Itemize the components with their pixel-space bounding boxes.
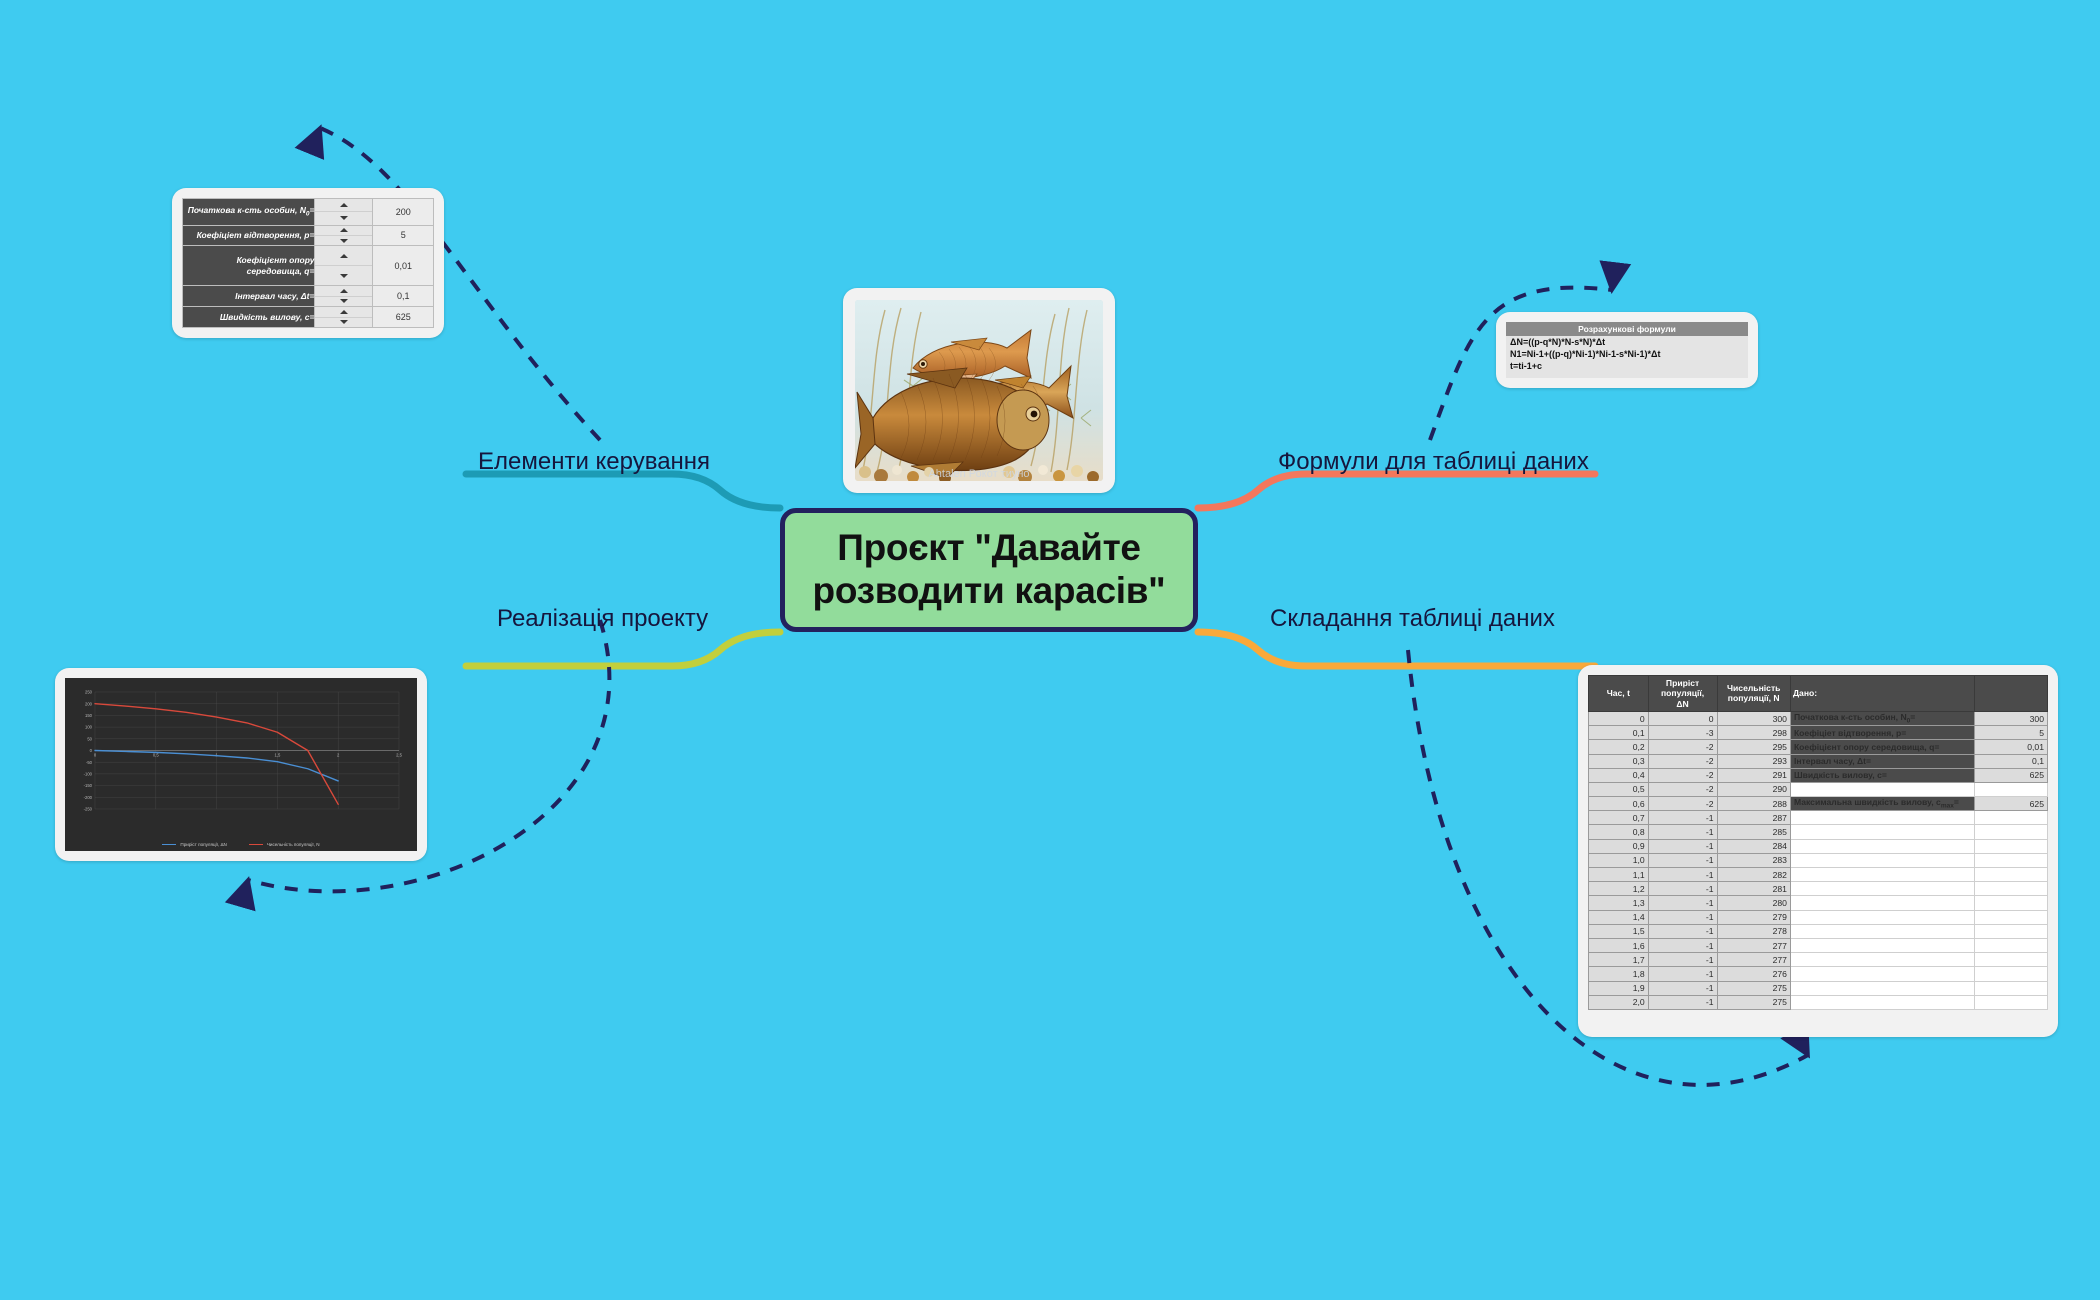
cell-N: 290 (1717, 782, 1790, 796)
control-spinner[interactable] (315, 246, 373, 286)
cell-given-value: 300 (1974, 711, 2047, 725)
formula-line-2: N1=Ni-1+((p-q)*Ni-1)*Ni-1-s*Ni-1)*Δt (1506, 348, 1748, 360)
formulas-inner: Розрахункові формули ΔN=((p-q*N)*N-s*N)*… (1506, 322, 1748, 378)
control-spinner[interactable] (315, 286, 373, 307)
control-row: Інтервал часу, Δt=0,1 (183, 286, 434, 307)
control-value: 0,01 (373, 246, 434, 286)
cell-t: 0,2 (1589, 740, 1649, 754)
formulas-card[interactable]: Розрахункові формули ΔN=((p-q*N)*N-s*N)*… (1496, 312, 1758, 388)
table-row: 1,6-1277 (1589, 938, 2048, 952)
cell-given-label (1790, 924, 1974, 938)
spinner-down-icon[interactable] (315, 297, 372, 306)
controls-table: Початкова к-сть особин, N0=200Коефіціет … (182, 198, 434, 328)
formula-line-3: t=ti-1+c (1506, 360, 1748, 372)
legend-label: Чисельність популяції, N (267, 842, 320, 847)
table-row: 1,2-1281 (1589, 882, 2048, 896)
cell-N: 293 (1717, 754, 1790, 768)
data-table: Час, t Приріст популяції, ΔN Чисельність… (1588, 675, 2048, 1010)
control-label: Коефіцієнт опору середовища, q= (183, 246, 315, 286)
cell-t: 0,6 (1589, 797, 1649, 811)
cell-t: 1,6 (1589, 938, 1649, 952)
cell-dN: -1 (1648, 967, 1717, 981)
cell-given-value: 625 (1974, 768, 2047, 782)
central-title-line1: Проєкт "Давайте (837, 527, 1140, 568)
cell-dN: -1 (1648, 868, 1717, 882)
cell-given-label: Початкова к-сть особин, N0= (1790, 711, 1974, 725)
cell-t: 1,2 (1589, 882, 1649, 896)
legend-swatch (249, 844, 263, 846)
cell-given-value (1974, 938, 2047, 952)
svg-text:-250: -250 (84, 807, 93, 812)
fish-image-svg: Ahtalen Рокот тиуно (855, 300, 1103, 481)
cell-N: 295 (1717, 740, 1790, 754)
table-row: 0,6-2288Максимальна швидкість вилову, cm… (1589, 797, 2048, 811)
table-row: 0,3-2293Інтервал часу, Δt=0,1 (1589, 754, 2048, 768)
branch-line-formulas (1198, 474, 1595, 508)
legend-swatch (162, 844, 176, 846)
control-label: Початкова к-сть особин, N0= (183, 199, 315, 226)
control-spinner[interactable] (315, 307, 373, 328)
cell-dN: -1 (1648, 995, 1717, 1009)
central-title-line2: розводити карасів" (813, 570, 1166, 611)
cell-given-label (1790, 953, 1974, 967)
cell-N: 283 (1717, 853, 1790, 867)
svg-text:0: 0 (90, 748, 93, 753)
cell-N: 287 (1717, 811, 1790, 825)
col-header-delta: Приріст популяції, ΔN (1648, 676, 1717, 712)
cell-given-value (1974, 995, 2047, 1009)
cell-t: 1,3 (1589, 896, 1649, 910)
control-value: 625 (373, 307, 434, 328)
cell-given-label (1790, 839, 1974, 853)
cell-N: 288 (1717, 797, 1790, 811)
controls-panel-card[interactable]: Початкова к-сть особин, N0=200Коефіціет … (172, 188, 444, 338)
branch-label-controls[interactable]: Елементи керування (478, 448, 710, 476)
cell-given-value (1974, 981, 2047, 995)
chart-legend: Приріст популяції, ΔNЧисельність популяц… (65, 842, 417, 847)
cell-dN: -1 (1648, 853, 1717, 867)
control-value: 5 (373, 225, 434, 246)
control-label: Коефіціет відтворення, p= (183, 225, 315, 246)
cell-t: 1,0 (1589, 853, 1649, 867)
table-row: 1,1-1282 (1589, 868, 2048, 882)
cell-dN: -1 (1648, 953, 1717, 967)
table-row: 00300Початкова к-сть особин, N0=300 (1589, 711, 2048, 725)
spinner-down-icon[interactable] (315, 266, 372, 285)
mindmap-canvas: Проєкт "Давайте розводити карасів" Елеме… (0, 0, 2100, 1300)
cell-given-value: 0,1 (1974, 754, 2047, 768)
table-row: 0,4-2291Швидкість вилову, c=625 (1589, 768, 2048, 782)
cell-t: 0,9 (1589, 839, 1649, 853)
legend-item: Чисельність популяції, N (249, 842, 320, 847)
cell-given-label (1790, 896, 1974, 910)
table-row: 0,7-1287 (1589, 811, 2048, 825)
cell-dN: -2 (1648, 740, 1717, 754)
svg-text:1,5: 1,5 (274, 753, 280, 758)
cell-dN: -1 (1648, 825, 1717, 839)
cell-dN: -2 (1648, 797, 1717, 811)
cell-dN: -2 (1648, 782, 1717, 796)
spinner-down-icon[interactable] (315, 318, 372, 327)
cell-N: 279 (1717, 910, 1790, 924)
cell-N: 282 (1717, 868, 1790, 882)
spinner-down-icon[interactable] (315, 236, 372, 245)
cell-given-value (1974, 839, 2047, 853)
table-row: 0,1-3298Коефіціет відтворення, p=5 (1589, 726, 2048, 740)
fish-illustration: Ahtalen Рокот тиуно (855, 300, 1103, 481)
cell-given-label (1790, 981, 1974, 995)
cell-N: 284 (1717, 839, 1790, 853)
table-row: 1,8-1276 (1589, 967, 2048, 981)
cell-given-label (1790, 938, 1974, 952)
cell-given-value (1974, 953, 2047, 967)
cell-t: 0,7 (1589, 811, 1649, 825)
control-row: Коефіцієнт опору середовища, q=0,01 (183, 246, 434, 286)
formula-line-1: ΔN=((p-q*N)*N-s*N)*Δt (1506, 336, 1748, 348)
cell-dN: -2 (1648, 754, 1717, 768)
spinner-up-icon[interactable] (315, 246, 372, 266)
cell-given-label: Максимальна швидкість вилову, cmax= (1790, 797, 1974, 811)
cell-dN: -2 (1648, 768, 1717, 782)
svg-text:0,5: 0,5 (153, 753, 159, 758)
branch-line-data-table (1198, 632, 1595, 666)
cell-N: 275 (1717, 981, 1790, 995)
cell-given-value: 625 (1974, 797, 2047, 811)
chart-card[interactable]: 250200150100500-50-100-150-200-25000,511… (55, 668, 427, 861)
svg-text:100: 100 (85, 725, 93, 730)
cell-N: 277 (1717, 938, 1790, 952)
cell-given-value (1974, 825, 2047, 839)
svg-text:150: 150 (85, 713, 93, 718)
cell-N: 281 (1717, 882, 1790, 896)
branch-line-implementation (466, 632, 780, 666)
table-row: 1,5-1278 (1589, 924, 2048, 938)
cell-t: 2,0 (1589, 995, 1649, 1009)
cell-t: 1,9 (1589, 981, 1649, 995)
cell-N: 300 (1717, 711, 1790, 725)
control-value: 0,1 (373, 286, 434, 307)
cell-given-value (1974, 924, 2047, 938)
svg-text:-200: -200 (84, 795, 93, 800)
svg-text:2: 2 (337, 753, 340, 758)
fish-image-caption: Ahtalen Рокот тиуно (928, 468, 1029, 480)
cell-N: 298 (1717, 726, 1790, 740)
table-row: 1,0-1283 (1589, 853, 2048, 867)
spinner-up-icon[interactable] (315, 307, 372, 317)
cell-t: 1,1 (1589, 868, 1649, 882)
data-table-inner: Час, t Приріст популяції, ΔN Чисельність… (1588, 675, 2048, 1027)
cell-given-label: Коефіціет відтворення, p= (1790, 726, 1974, 740)
cell-given-value (1974, 882, 2047, 896)
cell-given-label: Швидкість вилову, c= (1790, 768, 1974, 782)
spinner-up-icon[interactable] (315, 286, 372, 296)
central-node[interactable]: Проєкт "Давайте розводити карасів" (780, 508, 1198, 632)
cell-given-label (1790, 853, 1974, 867)
control-label: Інтервал часу, Δt= (183, 286, 315, 307)
spinner-up-icon[interactable] (315, 226, 372, 236)
cell-dN: -1 (1648, 882, 1717, 896)
cell-dN: -3 (1648, 726, 1717, 740)
cell-t: 1,7 (1589, 953, 1649, 967)
control-spinner[interactable] (315, 225, 373, 246)
cell-t: 0,8 (1589, 825, 1649, 839)
chart-svg: 250200150100500-50-100-150-200-25000,511… (65, 678, 417, 851)
cell-dN: -1 (1648, 811, 1717, 825)
cell-given-label (1790, 868, 1974, 882)
table-row: 1,3-1280 (1589, 896, 2048, 910)
cell-given-value (1974, 782, 2047, 796)
cell-given-value (1974, 910, 2047, 924)
cell-given-value (1974, 896, 2047, 910)
control-row: Коефіціет відтворення, p=5 (183, 225, 434, 246)
cell-dN: -1 (1648, 839, 1717, 853)
control-value: 200 (373, 199, 434, 226)
control-row: Початкова к-сть особин, N0=200 (183, 199, 434, 226)
chart-plot: 250200150100500-50-100-150-200-25000,511… (65, 678, 417, 851)
cell-dN: -1 (1648, 896, 1717, 910)
table-row: 0,5-2290 (1589, 782, 2048, 796)
svg-text:200: 200 (85, 701, 93, 706)
controls-panel-inner: Початкова к-сть особин, N0=200Коефіціет … (182, 198, 434, 328)
cell-dN: 0 (1648, 711, 1717, 725)
svg-text:-50: -50 (86, 760, 93, 765)
svg-text:250: 250 (85, 690, 93, 695)
cell-dN: -1 (1648, 924, 1717, 938)
cell-given-value: 0,01 (1974, 740, 2047, 754)
cell-N: 275 (1717, 995, 1790, 1009)
svg-text:0: 0 (94, 753, 97, 758)
cell-given-label (1790, 882, 1974, 896)
cell-t: 0,4 (1589, 768, 1649, 782)
cell-N: 285 (1717, 825, 1790, 839)
spinner-down-icon[interactable] (315, 212, 372, 224)
cell-given-value (1974, 868, 2047, 882)
cell-dN: -1 (1648, 981, 1717, 995)
cell-given-label (1790, 910, 1974, 924)
central-node-title: Проєкт "Давайте розводити карасів" (813, 527, 1166, 612)
fish-image-card[interactable]: Ahtalen Рокот тиуно (843, 288, 1115, 493)
table-header-row: Час, t Приріст популяції, ΔN Чисельність… (1589, 676, 2048, 712)
cell-given-label (1790, 782, 1974, 796)
col-header-given-value (1974, 676, 2047, 712)
cell-given-label (1790, 811, 1974, 825)
table-row: 1,9-1275 (1589, 981, 2048, 995)
svg-text:-150: -150 (84, 783, 93, 788)
cell-N: 276 (1717, 967, 1790, 981)
cell-given-label (1790, 967, 1974, 981)
data-table-card[interactable]: Час, t Приріст популяції, ΔN Чисельність… (1578, 665, 2058, 1037)
legend-item: Приріст популяції, ΔN (162, 842, 226, 847)
cell-t: 0,5 (1589, 782, 1649, 796)
chart-inner: 250200150100500-50-100-150-200-25000,511… (65, 678, 417, 851)
branch-label-formulas[interactable]: Формули для таблиці даних (1278, 448, 1589, 476)
cell-t: 1,8 (1589, 967, 1649, 981)
cell-N: 291 (1717, 768, 1790, 782)
svg-text:-100: -100 (84, 772, 93, 777)
cell-given-value (1974, 967, 2047, 981)
formulas-box: Розрахункові формули ΔN=((p-q*N)*N-s*N)*… (1506, 322, 1748, 378)
cell-given-label (1790, 825, 1974, 839)
col-header-given: Дано: (1790, 676, 1974, 712)
cell-N: 280 (1717, 896, 1790, 910)
cell-t: 0 (1589, 711, 1649, 725)
col-header-population: Чисельність популяції, N (1717, 676, 1790, 712)
col-header-time: Час, t (1589, 676, 1649, 712)
cell-t: 0,3 (1589, 754, 1649, 768)
table-row: 0,9-1284 (1589, 839, 2048, 853)
control-row: Швидкість вилову, c=625 (183, 307, 434, 328)
legend-label: Приріст популяції, ΔN (180, 842, 226, 847)
svg-text:50: 50 (87, 736, 92, 741)
cell-dN: -1 (1648, 938, 1717, 952)
control-spinner[interactable] (315, 199, 373, 226)
cell-given-label: Інтервал часу, Δt= (1790, 754, 1974, 768)
table-row: 1,4-1279 (1589, 910, 2048, 924)
cell-given-value (1974, 811, 2047, 825)
cell-given-label: Коефіцієнт опору середовища, q= (1790, 740, 1974, 754)
branch-label-implementation[interactable]: Реалізація проекту (497, 605, 708, 633)
cell-N: 277 (1717, 953, 1790, 967)
table-row: 1,7-1277 (1589, 953, 2048, 967)
cell-t: 1,5 (1589, 924, 1649, 938)
cell-given-value (1974, 853, 2047, 867)
svg-text:2,5: 2,5 (396, 753, 402, 758)
branch-label-data-table[interactable]: Складання таблиці даних (1270, 605, 1555, 633)
formulas-title: Розрахункові формули (1506, 322, 1748, 336)
cell-t: 1,4 (1589, 910, 1649, 924)
table-row: 2,0-1275 (1589, 995, 2048, 1009)
cell-t: 0,1 (1589, 726, 1649, 740)
table-row: 0,2-2295Коефіцієнт опору середовища, q=0… (1589, 740, 2048, 754)
branch-line-controls (466, 474, 780, 508)
cell-N: 278 (1717, 924, 1790, 938)
table-row: 0,8-1285 (1589, 825, 2048, 839)
spinner-up-icon[interactable] (315, 199, 372, 212)
cell-dN: -1 (1648, 910, 1717, 924)
control-label: Швидкість вилову, c= (183, 307, 315, 328)
cell-given-label (1790, 995, 1974, 1009)
cell-given-value: 5 (1974, 726, 2047, 740)
